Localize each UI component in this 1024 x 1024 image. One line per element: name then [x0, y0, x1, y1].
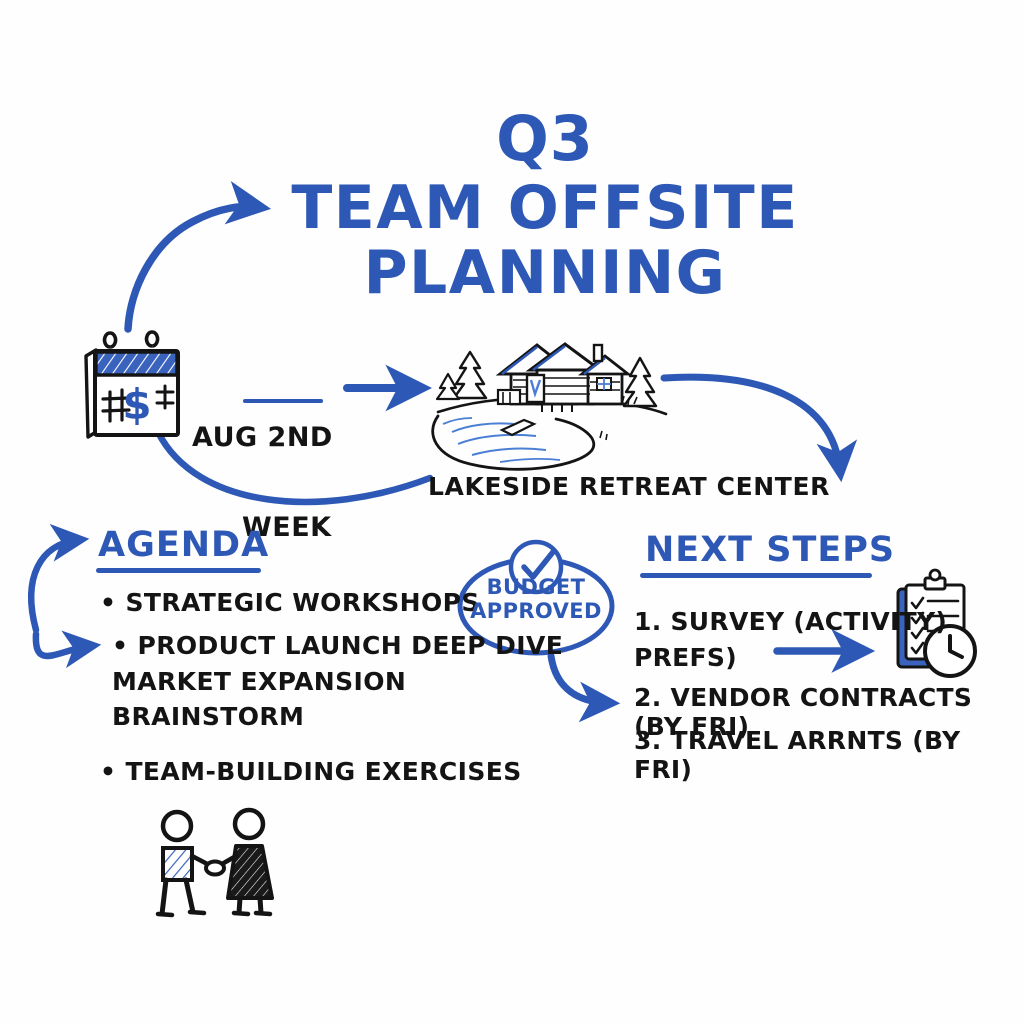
next-steps-heading-underline [640, 573, 872, 578]
title-line-2: PLANNING [285, 241, 805, 306]
budget-approved-label: BUDGET APPROVED [463, 576, 609, 623]
next-steps-list-item: 3. TRAVEL ARRNTS (BY FRI) [634, 726, 1024, 784]
offsite-date-line-1: AUG 2ND [192, 424, 333, 451]
next-steps-heading: NEXT STEPS [645, 533, 895, 568]
agenda-list-item: • TEAM-BUILDING EXERCISES [100, 757, 522, 786]
svg-text:$: $ [122, 380, 151, 429]
sketchnote-canvas: $ [0, 0, 1024, 1024]
agenda-list-item: • STRATEGIC WORKSHOPS [100, 588, 480, 617]
agenda-heading-underline [96, 568, 261, 573]
agenda-entry-arrow [31, 540, 78, 630]
budget-stamp-line-2: APPROVED [463, 600, 609, 624]
agenda-bullet-arrow [36, 634, 90, 656]
lakeside-cabin-icon [433, 344, 666, 469]
calendar-dollar-icon: $ [86, 332, 178, 437]
title-line-1: TEAM OFFSITE [285, 176, 805, 241]
venue-caption: LAKESIDE RETREAT CENTER [428, 474, 830, 499]
next-steps-list-item: 1. SURVEY (ACTIVITY) PREFS) [634, 604, 947, 677]
title-quarter: Q3 [285, 108, 805, 170]
venue-to-next-steps-arrow [664, 377, 840, 470]
agenda-heading: AGENDA [98, 528, 269, 563]
date-emphasis-underline [243, 399, 323, 403]
handshake-people-icon [158, 810, 272, 915]
calendar-to-title-arrow [128, 206, 258, 329]
budget-stamp-line-1: BUDGET [463, 576, 609, 600]
agenda-list-item: • PRODUCT LAUNCH DEEP DIVE MARKET EXPANS… [112, 628, 563, 735]
page-title: Q3 TEAM OFFSITE PLANNING [285, 108, 805, 306]
